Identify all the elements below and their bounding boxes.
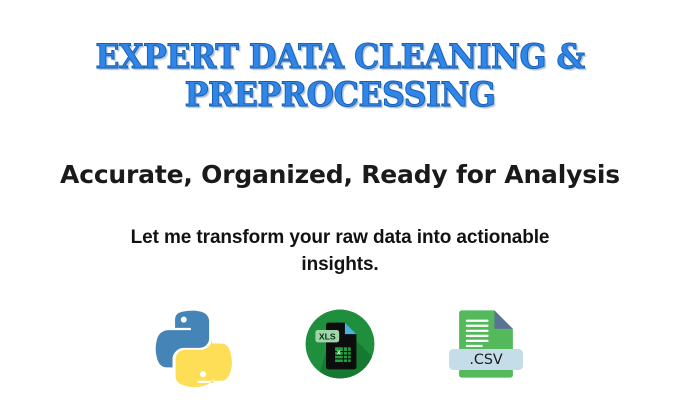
xls-badge: XLS — [315, 330, 339, 342]
csv-document-fold — [494, 310, 512, 328]
xls-document-shape — [326, 323, 356, 370]
xls-badge-label: XLS — [319, 331, 336, 341]
csv-file-icon: .CSV — [444, 300, 528, 388]
technology-icon-row: XLS x — [0, 298, 680, 390]
page-title: EXPERT DATA CLEANING & PREPROCESSING — [24, 38, 656, 114]
subtitle-text: Accurate, Organized, Ready for Analysis — [0, 160, 680, 190]
xls-file-icon: XLS x — [298, 300, 382, 388]
tagline-text: Let me transform your raw data into acti… — [90, 224, 590, 278]
poster-canvas: EXPERT DATA CLEANING & PREPROCESSING Acc… — [0, 0, 680, 409]
csv-banner: .CSV — [449, 349, 523, 370]
csv-banner-label: .CSV — [469, 352, 503, 368]
xls-spreadsheet-glyph: x — [335, 347, 351, 362]
python-logo-icon — [152, 300, 236, 388]
